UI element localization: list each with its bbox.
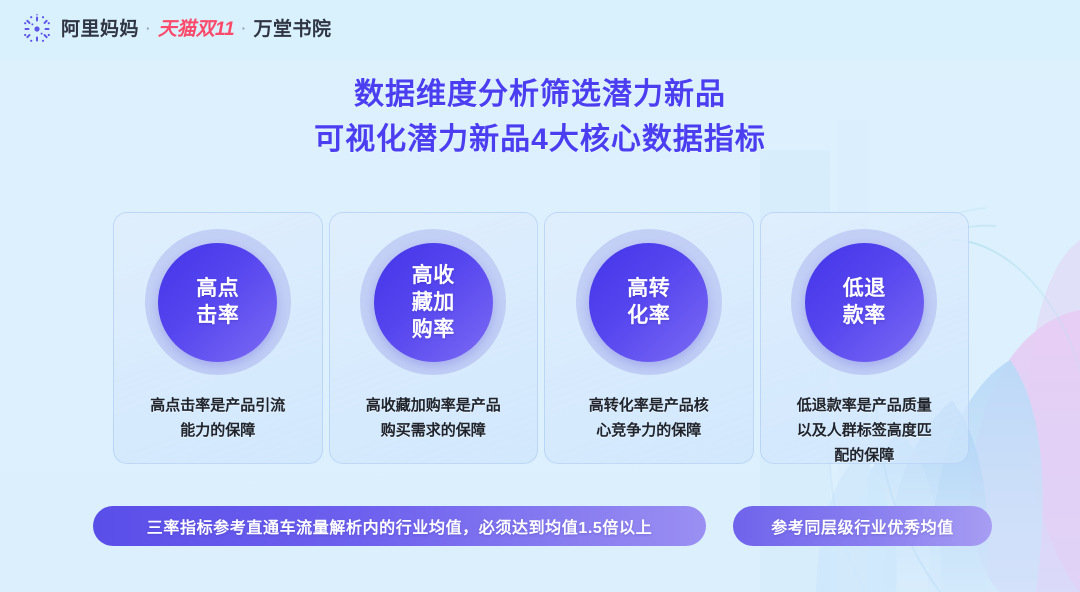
metric-badge-label: 高转 化率 — [611, 275, 686, 329]
metric-card-click-rate[interactable]: 高点 击率 高点击率是产品引流 能力的保障 — [113, 212, 323, 464]
brand-name: 阿里妈妈 — [61, 20, 139, 39]
footer-pill-label: 参考同层级行业优秀均值 — [771, 514, 954, 538]
metric-bubble: 高点 击率 — [158, 243, 277, 362]
sub-brand-name: 万堂书院 — [253, 20, 331, 39]
slide-canvas: 阿里妈妈 · 天猫双11 · 万堂书院 数据维度分析筛选潜力新品 可视化潜力新品… — [0, 0, 1080, 592]
decor-blob-pink — [971, 310, 1080, 592]
metric-description: 高转化率是产品核 心竞争力的保障 — [556, 393, 742, 443]
brand-lockup: 阿里妈妈 · 天猫双11 · 万堂书院 — [61, 20, 331, 39]
app-header: 阿里妈妈 · 天猫双11 · 万堂书院 — [0, 0, 1080, 58]
metric-description: 高收藏加购率是产品 购买需求的保障 — [340, 393, 526, 443]
metric-card-refund-rate[interactable]: 低退 款率 低退款率是产品质量 以及人群标签高度匹 配的保障 — [760, 212, 970, 464]
decor-arc-1 — [952, 240, 1080, 372]
metric-description: 高点击率是产品引流 能力的保障 — [125, 393, 311, 443]
brand-separator-1: · — [146, 22, 151, 35]
metric-bubble: 高收 藏加 购率 — [374, 243, 493, 362]
brand-separator-2: · — [242, 22, 247, 35]
footer-pill-label: 三率指标参考直通车流量解析内的行业均值，必须达到均值1.5倍以上 — [147, 514, 652, 538]
metric-ring: 高收 藏加 购率 — [360, 229, 506, 375]
footer-pill-row: 三率指标参考直通车流量解析内的行业均值，必须达到均值1.5倍以上 参考同层级行业… — [93, 506, 993, 546]
footer-pill-three-rate-benchmark[interactable]: 三率指标参考直通车流量解析内的行业均值，必须达到均值1.5倍以上 — [93, 506, 706, 546]
metric-description: 低退款率是产品质量 以及人群标签高度匹 配的保障 — [771, 393, 957, 464]
footer-pill-peer-benchmark[interactable]: 参考同层级行业优秀均值 — [733, 506, 992, 546]
alimama-starburst-icon — [22, 14, 52, 44]
page-title-line-1: 数据维度分析筛选潜力新品 — [0, 72, 1080, 117]
metric-card-row: 高点 击率 高点击率是产品引流 能力的保障 高收 藏加 购率 高收藏加购率是产品… — [113, 212, 969, 464]
decor-blob-pink-2 — [1028, 240, 1080, 592]
metric-badge-label: 高收 藏加 购率 — [396, 262, 471, 343]
page-title: 数据维度分析筛选潜力新品 可视化潜力新品4大核心数据指标 — [0, 72, 1080, 162]
metric-badge-label: 低退 款率 — [827, 275, 902, 329]
metric-ring: 低退 款率 — [791, 229, 937, 375]
metric-card-conversion-rate[interactable]: 高转 化率 高转化率是产品核 心竞争力的保障 — [544, 212, 754, 464]
metric-badge-label: 高点 击率 — [180, 275, 255, 329]
metric-bubble: 高转 化率 — [589, 243, 708, 362]
metric-bubble: 低退 款率 — [805, 243, 924, 362]
page-title-line-2: 可视化潜力新品4大核心数据指标 — [0, 117, 1080, 162]
metric-card-favorite-cart-rate[interactable]: 高收 藏加 购率 高收藏加购率是产品 购买需求的保障 — [329, 212, 539, 464]
metric-ring: 高转 化率 — [576, 229, 722, 375]
metric-ring: 高点 击率 — [145, 229, 291, 375]
tmall-campaign-label: 天猫双11 — [158, 20, 235, 39]
